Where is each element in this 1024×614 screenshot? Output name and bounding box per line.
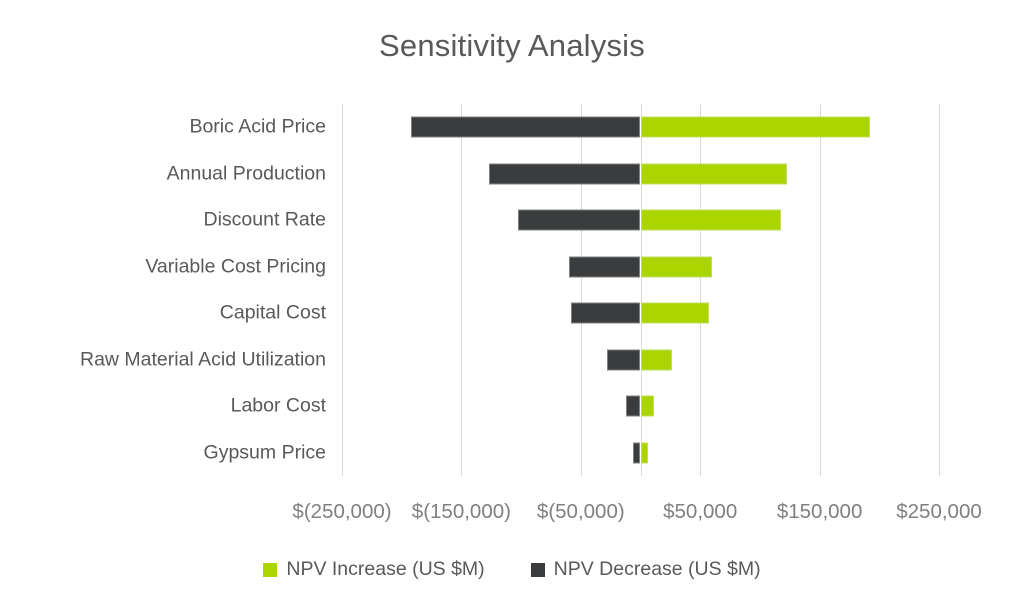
category-label: Capital Cost xyxy=(0,302,326,325)
legend-swatch-icon xyxy=(531,563,545,577)
bar-npv-increase xyxy=(641,349,672,370)
bar-npv-decrease xyxy=(518,210,641,231)
category-row: Variable Cost Pricing xyxy=(0,244,1024,291)
bar-npv-decrease xyxy=(626,396,640,417)
bar-npv-decrease xyxy=(411,117,640,138)
bar-npv-increase xyxy=(641,210,782,231)
x-tick-label: $150,000 xyxy=(777,500,863,524)
bar-npv-decrease xyxy=(633,442,640,463)
bar-npv-decrease xyxy=(607,349,640,370)
legend-item[interactable]: NPV Increase (US $M) xyxy=(263,558,484,581)
x-axis-tick-labels: $(250,000)$(150,000)$(50,000)$50,000$150… xyxy=(0,500,1024,534)
category-row: Discount Rate xyxy=(0,197,1024,244)
bar-npv-increase xyxy=(641,442,648,463)
category-row: Labor Cost xyxy=(0,383,1024,430)
legend-swatch-icon xyxy=(263,563,277,577)
bar-npv-decrease xyxy=(489,163,641,184)
category-row: Capital Cost xyxy=(0,290,1024,337)
x-tick-label: $(50,000) xyxy=(537,500,625,524)
category-row: Gypsum Price xyxy=(0,430,1024,477)
bar-npv-increase xyxy=(641,117,870,138)
legend-label: NPV Increase (US $M) xyxy=(286,558,484,581)
x-tick-label: $(250,000) xyxy=(292,500,391,524)
chart-legend: NPV Increase (US $M)NPV Decrease (US $M) xyxy=(0,558,1024,581)
x-tick-label: $50,000 xyxy=(663,500,737,524)
category-label: Discount Rate xyxy=(0,209,326,232)
category-row: Boric Acid Price xyxy=(0,104,1024,151)
category-rows: Boric Acid PriceAnnual ProductionDiscoun… xyxy=(0,104,1024,476)
x-tick-label: $(150,000) xyxy=(412,500,511,524)
legend-label: NPV Decrease (US $M) xyxy=(554,558,761,581)
bar-npv-increase xyxy=(641,303,709,324)
bar-npv-decrease xyxy=(569,256,641,277)
category-label: Raw Material Acid Utilization xyxy=(0,348,326,371)
bar-npv-increase xyxy=(641,163,788,184)
category-row: Raw Material Acid Utilization xyxy=(0,337,1024,384)
category-label: Gypsum Price xyxy=(0,441,326,464)
bar-npv-increase xyxy=(641,396,654,417)
category-label: Variable Cost Pricing xyxy=(0,255,326,278)
bar-npv-increase xyxy=(641,256,713,277)
chart-title: Sensitivity Analysis xyxy=(0,28,1024,64)
sensitivity-analysis-chart: Sensitivity Analysis Boric Acid PriceAnn… xyxy=(0,0,1024,614)
x-tick-label: $250,000 xyxy=(896,500,982,524)
category-label: Boric Acid Price xyxy=(0,116,326,139)
legend-item[interactable]: NPV Decrease (US $M) xyxy=(531,558,761,581)
bar-npv-decrease xyxy=(571,303,640,324)
category-row: Annual Production xyxy=(0,151,1024,198)
category-label: Labor Cost xyxy=(0,395,326,418)
category-label: Annual Production xyxy=(0,162,326,185)
